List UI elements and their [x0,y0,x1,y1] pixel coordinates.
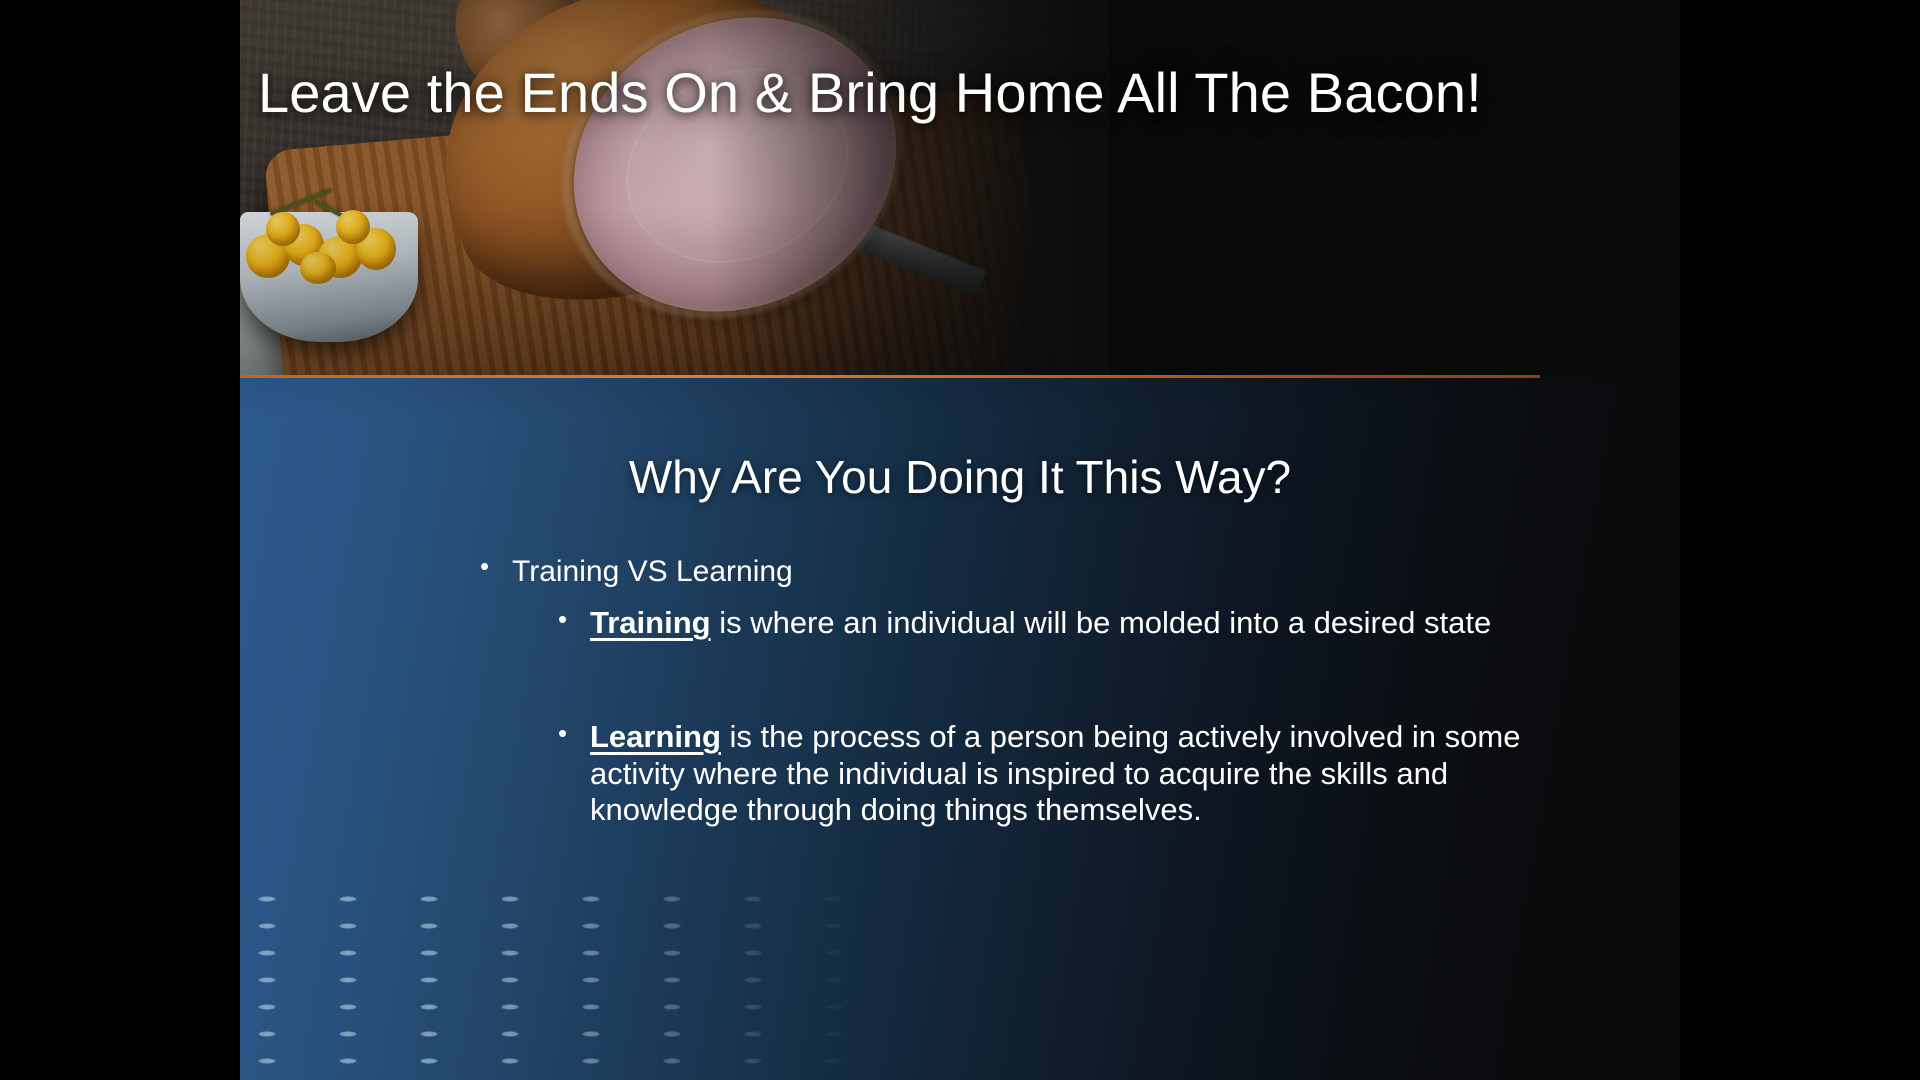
letterbox-left [0,0,240,1080]
bullet-text-training: is where an individual will be molded in… [711,605,1492,640]
bullet-item-training: Training is where an individual will be … [554,605,1532,641]
bullet-text-learning: is the process of a person being activel… [590,719,1520,827]
letterbox-right [1680,0,1920,1080]
presentation-stage: Leave the Ends On & Bring Home All The B… [0,0,1920,1080]
slide-title: Leave the Ends On & Bring Home All The B… [258,62,1658,125]
bullet-list: Training VS Learning Training is where a… [472,552,1532,828]
bullet-item-learning: Learning is the process of a person bein… [554,719,1532,828]
bullet-list-root: Training VS Learning Training is where a… [472,552,1532,828]
bullet-emphasis-learning: Learning [590,719,721,754]
bullet-text: Training VS Learning [512,555,793,588]
slide: Leave the Ends On & Bring Home All The B… [240,0,1680,1080]
body-heading: Why Are You Doing It This Way? [480,450,1440,504]
bullet-emphasis-training: Training [590,605,711,640]
bullet-item-level1: Training VS Learning [472,552,1532,591]
accent-divider-rule [240,375,1540,378]
header-photo-region [240,0,1680,377]
photo-right-fade [710,0,1110,377]
